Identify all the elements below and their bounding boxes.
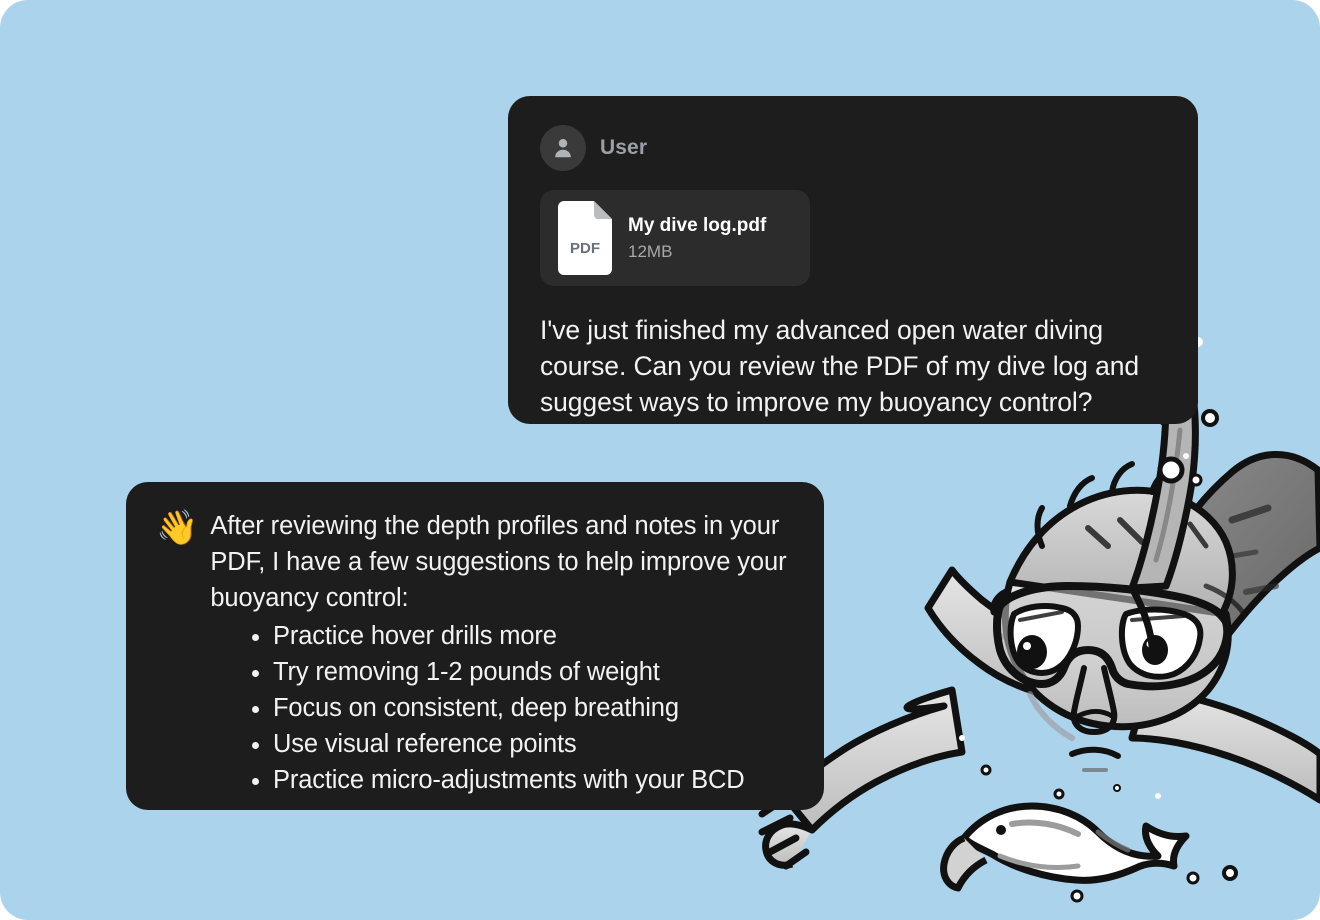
list-item: Use visual reference points xyxy=(156,726,798,762)
chat-thread: User PDF My dive log.pdf 12MB I've just … xyxy=(0,0,1320,920)
assistant-message-bubble: 👋 After reviewing the depth profiles and… xyxy=(126,482,824,810)
attachment-chip[interactable]: PDF My dive log.pdf 12MB xyxy=(540,190,810,286)
attachment-file-size: 12MB xyxy=(628,242,766,262)
user-message-text: I've just finished my advanced open wate… xyxy=(540,312,1166,420)
attachment-meta: My dive log.pdf 12MB xyxy=(628,215,766,262)
attachment-file-name: My dive log.pdf xyxy=(628,215,766,237)
assistant-intro-text: After reviewing the depth profiles and n… xyxy=(210,508,798,616)
person-avatar-icon xyxy=(540,125,586,171)
list-item: Practice hover drills more xyxy=(156,618,798,654)
screenshot-canvas: User PDF My dive log.pdf 12MB I've just … xyxy=(0,0,1320,920)
list-item: Try removing 1-2 pounds of weight xyxy=(156,654,798,690)
list-item: Practice micro-adjustments with your BCD xyxy=(156,762,798,798)
user-name-label: User xyxy=(600,136,647,160)
pdf-file-icon: PDF xyxy=(558,201,612,275)
user-message-bubble: User PDF My dive log.pdf 12MB I've just … xyxy=(508,96,1198,424)
list-item: Focus on consistent, deep breathing xyxy=(156,690,798,726)
user-header: User xyxy=(540,124,1166,172)
suggestion-list: Practice hover drills more Try removing … xyxy=(156,618,798,798)
assistant-intro-row: 👋 After reviewing the depth profiles and… xyxy=(156,508,798,616)
pdf-icon-label: PDF xyxy=(570,240,600,257)
waving-hand-emoji: 👋 xyxy=(156,510,198,546)
